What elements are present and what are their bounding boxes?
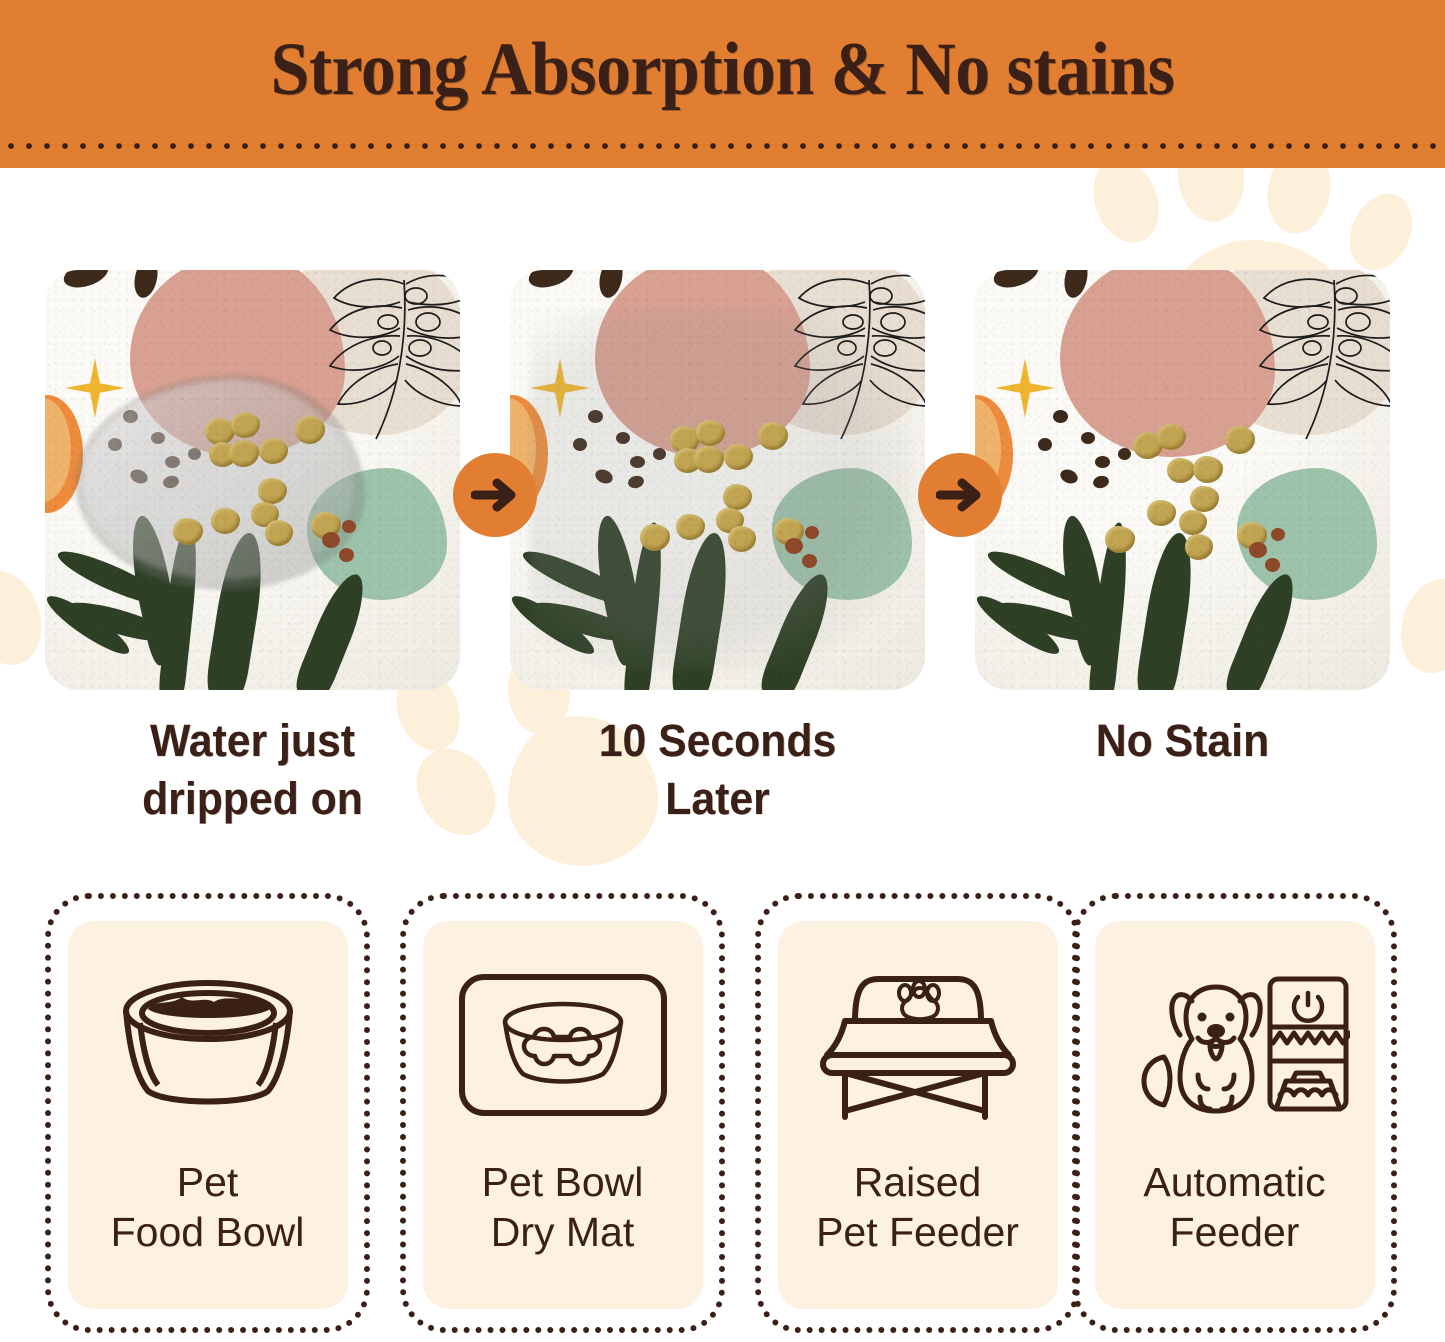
step-arrow-2 [918,453,1002,537]
leaf-blade [1052,513,1116,667]
pink-blob-shape [1060,270,1275,457]
demo-photo-step-3 [975,270,1390,690]
mat-artwork [510,270,925,690]
leaf-frond [527,595,641,649]
feature-card-pet-bowl-dry-mat[interactable]: Pet Bowl Dry Mat [400,893,725,1333]
leaf-stem [1088,521,1132,690]
seed-dot [1058,467,1080,486]
star-shape [65,358,125,418]
monstera-leaf-icon [723,270,925,449]
leaf-frond [983,543,1101,613]
seed-dot [573,438,587,451]
kibble [265,520,293,546]
damp-sheen [530,310,910,670]
leaf-blade [757,568,839,690]
leaf-blade [1222,568,1304,690]
seed-dot [188,448,201,460]
leaf-wash-shape [1195,270,1390,435]
kibble [1157,424,1186,450]
leaf-frond [510,588,600,661]
kibble-bit [1271,528,1285,541]
mat-artwork [45,270,460,690]
pet-food-bowl-icon [104,935,312,1155]
seed-dot [616,432,630,444]
kibble-bit [342,520,356,533]
kibble [640,524,670,551]
kibble [724,444,753,470]
demo-caption-3: No Stain [985,712,1379,770]
kibble-bit [805,526,819,539]
leaf-stem [158,521,202,690]
kibble [311,512,341,539]
header-dotted-divider [0,140,1445,152]
green-blob-shape [1237,468,1377,600]
kibble [1147,500,1176,526]
feature-card-label: Pet Food Bowl [111,1157,305,1257]
kibble [1193,456,1223,483]
seed-dot [1095,456,1110,468]
kibble [758,422,788,450]
feature-card-inner: Pet Food Bowl [68,921,348,1309]
kibble-bit [339,548,354,562]
feature-card-inner: Pet Bowl Dry Mat [423,921,703,1309]
leaf-blade [1134,530,1199,690]
page-title: Strong Absorption & No stains [51,32,1395,107]
seed-dot [123,410,138,423]
leaf-wash-shape [265,270,460,435]
kibble [723,484,752,510]
pink-blob-shape [595,270,810,457]
mat-artwork [975,270,1390,690]
kibble [1133,432,1163,459]
kibble [774,518,804,545]
leaf-frond [992,595,1106,649]
kibble [1225,426,1255,454]
seed-dot [128,467,150,486]
kibble [1167,458,1195,483]
demo-photo-step-1 [45,270,460,690]
seed-dot [165,456,180,468]
leaf-frond [975,588,1065,661]
kibble [670,426,700,453]
feature-card-label: Pet Bowl Dry Mat [482,1157,644,1257]
seed-dot [1061,270,1091,300]
automatic-feeder-icon [1120,935,1350,1155]
feature-card-label: Raised Pet Feeder [816,1157,1019,1257]
seed-dot [1038,438,1052,451]
kibble [728,526,756,552]
kibble [258,478,287,504]
seed-dot [653,448,666,460]
kibble-bit [322,532,340,548]
paw-toe [1338,184,1424,281]
leaf-frond [53,543,171,613]
leaf-frond [62,595,176,649]
kibble [173,518,203,545]
kibble [295,416,325,444]
pet-bowl-dry-mat-icon [457,935,669,1155]
seed-dot [588,410,603,423]
leaf-blade [292,568,374,690]
star-shape [530,358,590,418]
seed-dot [60,270,111,293]
leaf-blade [204,530,269,690]
leaf-blade [587,513,651,667]
leaf-blade [122,513,186,667]
monstera-leaf-icon [1188,270,1390,449]
kibble [259,438,288,464]
feature-card-inner: Automatic Feeder [1095,921,1375,1309]
demo-caption-2: 10 Seconds Later [520,712,914,827]
feature-card-raised-pet-feeder[interactable]: Raised Pet Feeder [755,893,1080,1333]
kibble [676,514,705,540]
seed-dot [1118,448,1131,460]
raised-pet-feeder-icon [809,935,1027,1155]
leaf-stem [623,521,667,690]
feature-cards-row: Pet Food Bowl Pet Bowl Dry Mat [0,893,1445,1338]
kibble [229,440,259,467]
monstera-leaf-icon [258,270,460,449]
paw-toe [1173,168,1248,225]
orange-inner-shape [45,398,71,502]
seed-dot [1053,410,1068,423]
seed-dot [525,270,576,293]
kibble-bit [802,554,817,568]
kibble [209,442,237,467]
seed-dot [162,474,180,490]
seed-dot [108,438,122,451]
paw-toe [1261,168,1337,239]
star-shape [995,358,1055,418]
kibble [1105,526,1135,553]
arrow-right-icon [936,473,984,517]
absorption-demo-row [0,270,1445,690]
feature-card-pet-food-bowl[interactable]: Pet Food Bowl [45,893,370,1333]
kibble [211,508,240,534]
header-banner: Strong Absorption & No stains [0,0,1445,168]
leaf-frond [45,588,135,661]
seed-dot [151,432,165,444]
paw-toe [1081,168,1171,252]
seed-dot [630,456,645,468]
kibble-bit [785,538,803,554]
step-arrow-1 [453,453,537,537]
kibble [251,502,279,527]
kibble [1185,534,1213,560]
seed-dot [593,467,615,486]
kibble-bit [1265,558,1280,572]
seed-dot [596,270,626,300]
seed-dot [990,270,1041,293]
green-blob-shape [772,468,912,600]
kibble [1179,510,1207,535]
kibble [696,420,725,446]
seed-dot [131,270,161,300]
kibble-bit [1249,542,1267,558]
feature-card-label: Automatic Feeder [1143,1157,1325,1257]
kibble [674,448,702,473]
infographic-root: Strong Absorption & No stains [0,0,1445,1342]
kibble [231,412,260,438]
pink-blob-shape [130,270,345,457]
kibble [1190,486,1219,512]
kibble [694,446,724,473]
demo-caption-1: Water just dripped on [55,712,449,827]
orange-blob-shape [45,395,83,513]
demo-photo-step-2 [510,270,925,690]
seed-dot [1081,432,1095,444]
feature-card-inner: Raised Pet Feeder [778,921,1058,1309]
water-puddle [75,375,365,590]
leaf-blade [669,530,734,690]
leaf-frond [518,543,636,613]
kibble [205,418,235,445]
green-blob-shape [307,468,447,600]
kibble [1237,522,1267,549]
arrow-right-icon [471,473,519,517]
seed-dot [1092,474,1110,490]
feature-card-automatic-feeder[interactable]: Automatic Feeder [1072,893,1397,1333]
kibble [716,508,744,533]
water-sheen [83,380,353,580]
leaf-wash-shape [730,270,925,435]
seed-dot [627,474,645,490]
